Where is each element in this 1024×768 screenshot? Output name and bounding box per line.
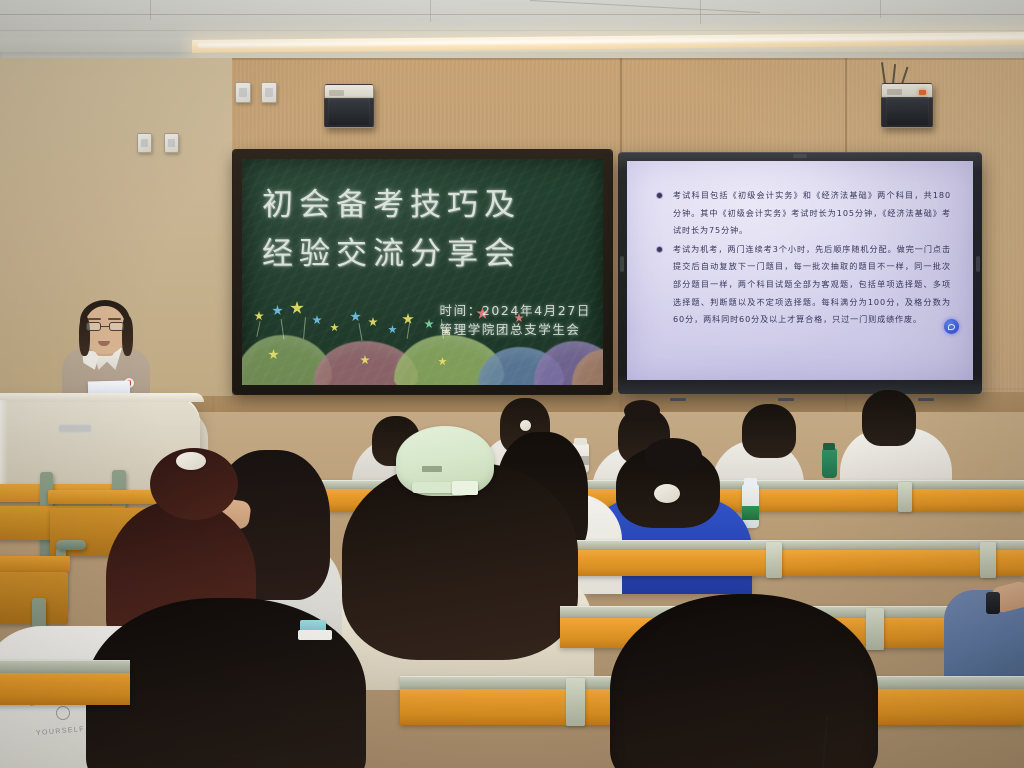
chalk-sparkle (407, 321, 411, 339)
chalk-star-icon (312, 315, 322, 325)
hair-scrunchie (520, 420, 531, 431)
chalk-star-icon (368, 317, 378, 327)
slide-surface: 考试科目包括《初级会计实务》和《经济法基础》两个科目，共180分钟。其中《初级会… (627, 161, 973, 380)
hair-bun (624, 400, 660, 422)
chalk-star-icon (272, 305, 283, 316)
lecture-hall-photo: 初会备考技巧及 经验交流分享会 时间：2024年4月27日 管理学院团总支学生会… (0, 0, 1024, 768)
chalk-sparkle (256, 321, 260, 337)
chalk-star-icon (350, 311, 361, 322)
podium-nameplate (58, 424, 92, 433)
slide-content: 考试科目包括《初级会计实务》和《经济法基础》两个科目，共180分钟。其中《初级会… (657, 187, 951, 330)
seat-plank (48, 490, 160, 504)
chalk-sparkle (303, 317, 306, 339)
wall-switch-a[interactable] (137, 133, 152, 153)
blackboard-org: 管理学院团总支学生会 (440, 320, 591, 339)
wall-switch-b[interactable] (164, 133, 179, 153)
wall-switch-c[interactable] (235, 82, 251, 103)
bottle-cap-icon (574, 438, 587, 445)
slide-bullet-text: 考试科目包括《初级会计实务》和《经济法基础》两个科目，共180分钟。其中《初级会… (673, 190, 951, 235)
chalk-star-icon (424, 319, 434, 329)
seat-plank (0, 556, 70, 572)
podium-highlight (0, 400, 8, 492)
wall-speaker-left (324, 84, 374, 128)
slide-bullet-item: 考试为机考，两门连续考3个小时，先后顺序随机分配。做完一门点击提交后自动复放下一… (657, 241, 951, 329)
bullet-icon (657, 193, 662, 198)
bottle-cap-icon (744, 478, 757, 486)
bottle-cap-icon (823, 443, 835, 450)
presenter-brow-right (108, 318, 121, 320)
chalk-star-icon (388, 325, 397, 334)
wristwatch-icon (986, 592, 1000, 614)
blackboard-title-line2: 经验交流分享会 (262, 230, 592, 279)
presenter-brow-left (88, 318, 101, 320)
chair-armrest-curve (56, 540, 86, 550)
chalk-star-icon (254, 311, 264, 321)
blackboard-date: 时间：2024年4月27日 (440, 301, 591, 320)
hair-scrunchie (176, 452, 206, 470)
wall-switch-d[interactable] (261, 82, 277, 103)
chalk-sparkle (358, 323, 362, 341)
bottle-label (742, 506, 759, 520)
wall-speaker-right (881, 83, 933, 128)
water-bottle-green (822, 448, 837, 478)
student-hair (610, 594, 878, 768)
blackboard-title: 初会备考技巧及 经验交流分享会 (262, 181, 592, 279)
bullet-icon (657, 247, 662, 252)
student-hair (862, 390, 916, 446)
slide-bullet-text: 考试为机考，两门连续考3个小时，先后顺序随机分配。做完一门点击提交后自动复放下一… (673, 244, 951, 324)
desk-bracket (980, 542, 996, 578)
student-hair (742, 404, 796, 458)
tee-graphic-icon (56, 706, 70, 720)
hair-scrunchie (654, 484, 680, 503)
blackboard-meta: 时间：2024年4月27日 管理学院团总支学生会 (440, 301, 591, 339)
desk-bracket (566, 678, 585, 726)
hair-bun (644, 438, 702, 474)
projector-screen[interactable]: 考试科目包括《初级会计实务》和《经济法基础》两个科目，共180分钟。其中《初级会… (618, 152, 982, 394)
desk-bracket (898, 482, 912, 512)
blackboard-title-line1: 初会备考技巧及 (262, 181, 592, 230)
chalk-star-icon (290, 301, 304, 315)
desk-item-paper (298, 630, 332, 640)
blackboard: 初会备考技巧及 经验交流分享会 时间：2024年4月27日 管理学院团总支学生会 (233, 150, 612, 394)
desk-bracket (866, 608, 884, 650)
slide-bullet-item: 考试科目包括《初级会计实务》和《经济法基础》两个科目，共180分钟。其中《初级会… (657, 187, 951, 240)
chalk-star-icon (330, 323, 339, 332)
screen-bottom-controls (618, 394, 982, 406)
wechat-badge-icon (944, 319, 959, 334)
cap-buckle (452, 481, 478, 495)
desk-bracket (766, 542, 782, 578)
cap-logo (422, 466, 442, 472)
glasses-icon (86, 322, 124, 331)
podium-top-edge (0, 393, 204, 402)
